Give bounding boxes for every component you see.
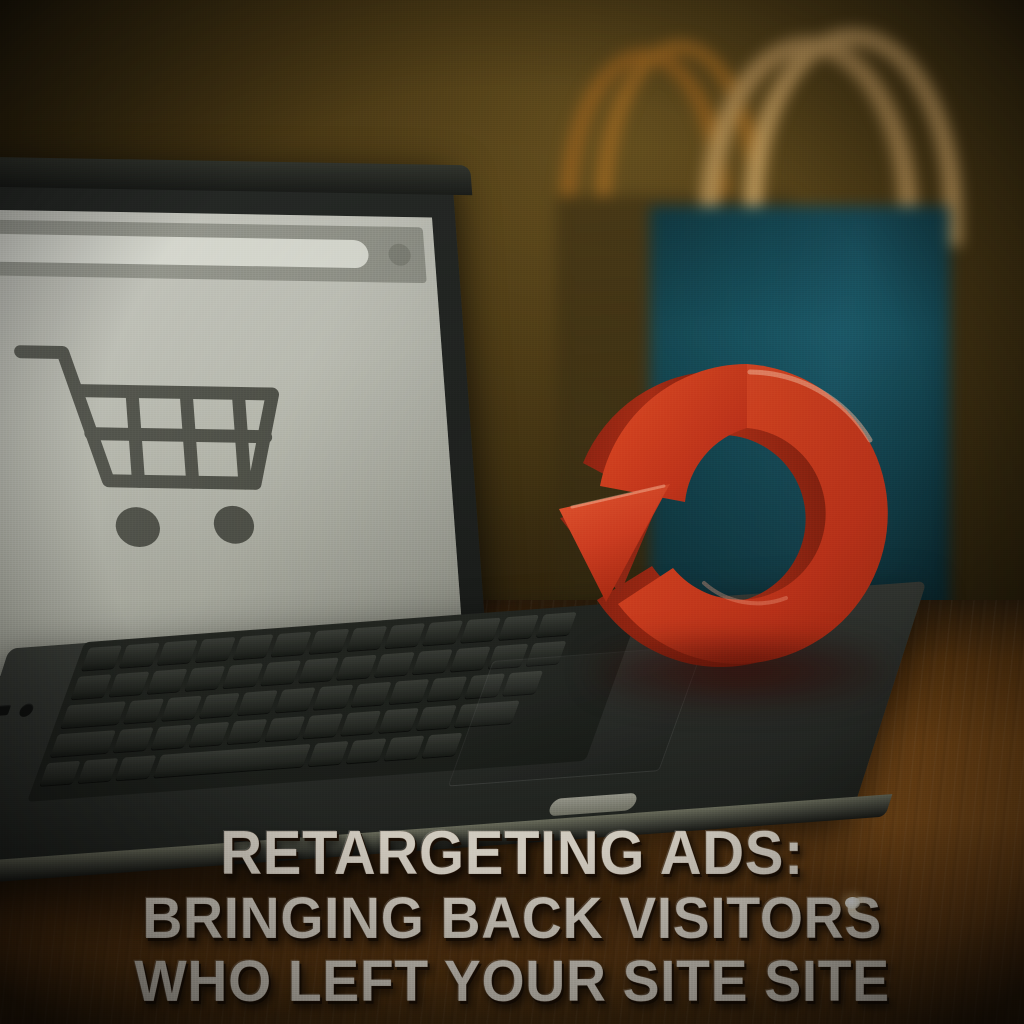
headline-line-1: RETARGETING ADS: xyxy=(31,824,994,884)
retarget-arrow-shadow xyxy=(590,636,890,706)
promo-graphic-canvas: RETARGETING ADS: BRINGING BACK VISITORS … xyxy=(0,0,1024,1024)
laptop-screen xyxy=(0,208,466,684)
headline-block: RETARGETING ADS: BRINGING BACK VISITORS … xyxy=(0,824,1024,1011)
bokeh-light-dot xyxy=(845,897,860,909)
retarget-arrow-3d xyxy=(518,336,948,726)
headline-line-3: WHO LEFT YOUR SITE SITE xyxy=(20,954,1003,1010)
usb-port-icon xyxy=(0,705,11,717)
screen-glass-reflection xyxy=(0,208,466,684)
